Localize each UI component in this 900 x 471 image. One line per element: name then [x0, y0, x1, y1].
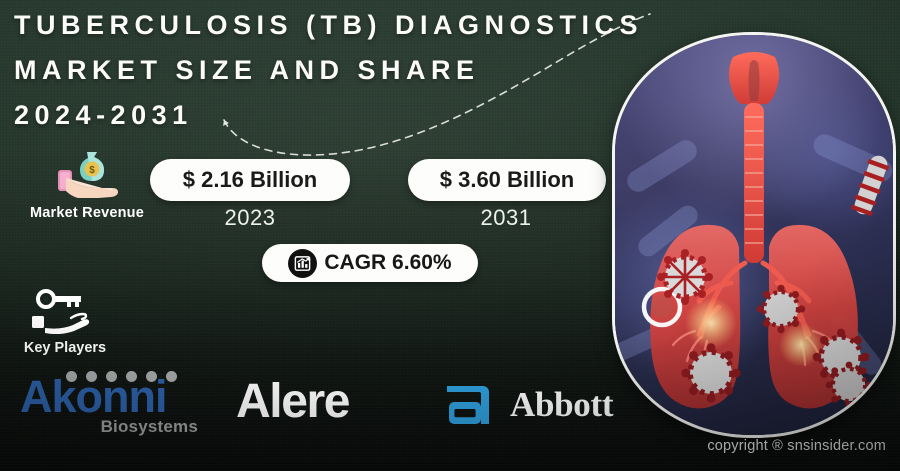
infographic-canvas: TUBERCULOSIS (TB) DIAGNOSTICS MARKET SIZ…	[0, 0, 900, 471]
lungs-illustration-panel	[612, 32, 896, 438]
growth-chart-icon	[288, 249, 317, 278]
cagr-badge: CAGR 6.60%	[262, 244, 478, 282]
cagr-label: CAGR 6.60%	[324, 251, 451, 275]
market-revenue-label: Market Revenue	[14, 205, 160, 221]
abbott-a-icon	[440, 380, 496, 430]
forecast-value-pill: $ 3.60 Billion	[408, 159, 606, 201]
base-value-pill: $ 2.16 Billion	[150, 159, 350, 201]
page-title-line-2: MARKET SIZE AND SHARE	[14, 57, 480, 84]
akonni-wordmark: Akonni	[20, 376, 200, 419]
hand-holding-money-bag-icon: $	[50, 148, 124, 198]
abbott-wordmark: Abbott	[510, 385, 613, 425]
copyright-text: copyright ® snsinsider.com	[707, 438, 886, 454]
akonni-dot	[166, 371, 177, 382]
market-revenue-block: $ Market Revenue	[14, 148, 160, 221]
logo-akonni-biosystems: Akonni Biosystems	[20, 371, 200, 437]
forecast-year-label: 2031	[406, 205, 606, 231]
lungs-with-bacteria-graphic	[615, 35, 893, 435]
logo-alere: Alere	[236, 378, 349, 426]
page-title-line-3: 2024-2031	[14, 102, 193, 129]
key-players-label: Key Players	[6, 340, 124, 356]
key-in-hand-icon	[29, 288, 101, 334]
key-players-block: Key Players	[6, 288, 124, 356]
logo-abbott: Abbott	[440, 380, 613, 430]
svg-text:$: $	[89, 165, 95, 176]
base-year-label: 2023	[150, 205, 350, 231]
page-title-line-1: TUBERCULOSIS (TB) DIAGNOSTICS	[14, 12, 643, 39]
